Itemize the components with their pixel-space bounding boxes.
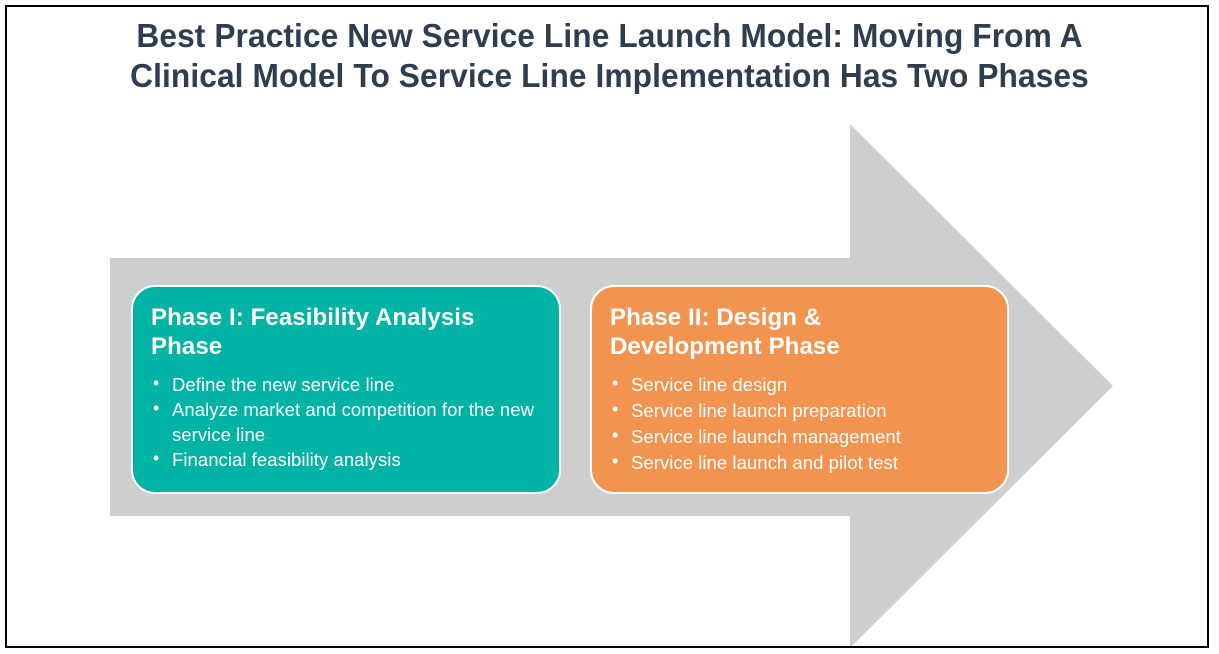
list-item: • Analyze market and competition for the… <box>151 397 545 447</box>
bullet-icon: • <box>153 371 159 396</box>
list-item-label: Service line design <box>631 374 787 395</box>
list-item: • Financial feasibility analysis <box>151 447 545 472</box>
page-title: Best Practice New Service Line Launch Mo… <box>46 16 1174 96</box>
list-item: • Define the new service line <box>151 372 545 397</box>
list-item: • Service line design <box>610 372 993 398</box>
list-item: • Service line launch and pilot test <box>610 450 993 476</box>
phase-bullet-list: • Service line design • Service line lau… <box>610 372 993 476</box>
list-item-label: Service line launch management <box>631 426 901 447</box>
slide-canvas: Best Practice New Service Line Launch Mo… <box>0 0 1219 654</box>
list-item-label: Service line launch preparation <box>631 400 887 421</box>
bullet-icon: • <box>612 423 618 448</box>
list-item-label: Financial feasibility analysis <box>172 449 401 470</box>
bullet-icon: • <box>612 397 618 422</box>
list-item-label: Service line launch and pilot test <box>631 452 898 473</box>
phase-card-heading: Phase II: Design & Development Phase <box>610 303 993 361</box>
list-item-label: Define the new service line <box>172 374 394 395</box>
phase-card-heading: Phase I: Feasibility Analysis Phase <box>151 303 545 361</box>
list-item-label: Analyze market and competition for the n… <box>172 399 534 445</box>
phase-bullet-list: • Define the new service line • Analyze … <box>151 372 545 472</box>
bullet-icon: • <box>153 396 159 421</box>
bullet-icon: • <box>612 371 618 396</box>
list-item: • Service line launch preparation <box>610 398 993 424</box>
list-item: • Service line launch management <box>610 424 993 450</box>
phase-card-phase-1[interactable]: Phase I: Feasibility Analysis Phase • De… <box>131 285 561 494</box>
phase-card-phase-2[interactable]: Phase II: Design & Development Phase • S… <box>590 285 1009 494</box>
bullet-icon: • <box>612 449 618 474</box>
bullet-icon: • <box>153 446 159 471</box>
